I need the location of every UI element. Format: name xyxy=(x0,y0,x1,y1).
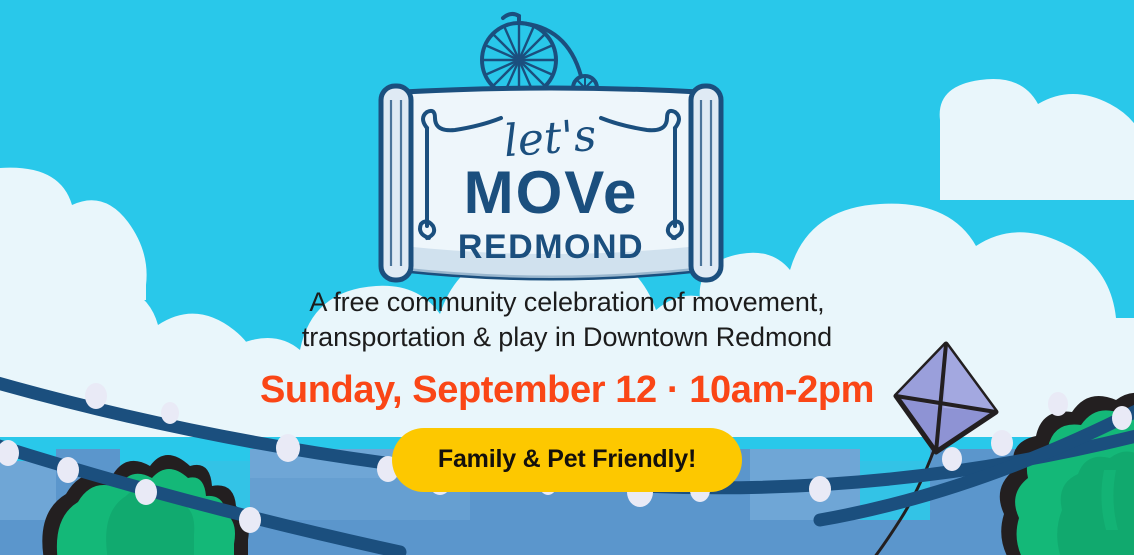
pill-container: Family & Pet Friendly! xyxy=(0,428,1134,492)
scroll-roller-right xyxy=(691,86,721,280)
event-date-time: Sunday, September 12 · 10am-2pm xyxy=(0,368,1134,412)
tagline-line-1: A free community celebration of movement… xyxy=(120,285,1014,320)
scroll-roller-left xyxy=(381,86,411,280)
tagline: A free community celebration of movement… xyxy=(0,285,1134,355)
logo-line-move: MOVe xyxy=(464,159,639,226)
lets-move-redmond-logo: let's MOVe REDMOND xyxy=(371,8,731,293)
logo-line-redmond: REDMOND xyxy=(458,228,644,266)
event-banner: let's MOVe REDMOND A free community cele… xyxy=(0,0,1134,555)
event-copy: A free community celebration of movement… xyxy=(0,285,1134,412)
tagline-line-2: transportation & play in Downtown Redmon… xyxy=(120,320,1014,355)
family-pet-friendly-badge[interactable]: Family & Pet Friendly! xyxy=(392,428,742,492)
